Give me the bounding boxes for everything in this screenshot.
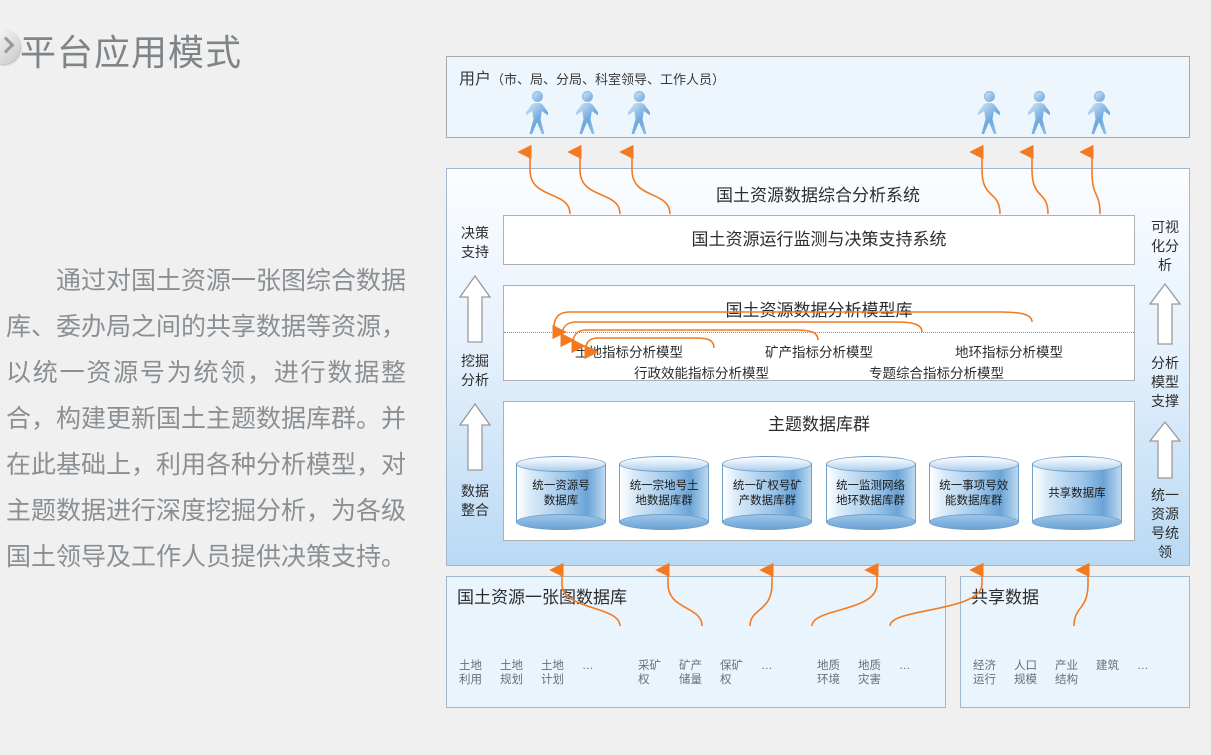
users-label-main: 用户 [459,69,491,88]
theme-database-title: 主题数据库群 [504,410,1134,435]
model-item: 土地指标分析模型 [575,341,683,361]
model-row-2: 行政效能指标分析模型 专题综合指标分析模型 [504,362,1134,382]
user-person-icon [1087,91,1111,135]
user-person-icon [525,91,549,135]
cylinder-label: 土地 规划 [500,659,536,687]
cylinder-label: 地质 灾害 [858,659,894,687]
side-label-decision-support: 决策 支持 [455,225,495,263]
database-cylinder[interactable]: 统一资源号 数据库 [516,456,606,530]
theme-database-box: 主题数据库群 统一资源号 数据库 统一宗地号土 地数据库群 统一矿权号矿 产数据… [503,401,1135,541]
side-label-mining-analysis: 挖掘 分析 [455,353,495,391]
model-row-1: 土地指标分析模型 矿产指标分析模型 地环指标分析模型 [504,341,1134,361]
model-item: 专题综合指标分析模型 [869,362,1004,382]
small-database-cylinder[interactable]: … [899,633,935,695]
small-database-cylinder[interactable]: 人口 规模 [1014,633,1050,695]
small-database-cylinder[interactable]: … [582,633,618,695]
database-cylinder[interactable]: 共享数据库 [1032,456,1122,530]
small-database-cylinder[interactable]: 土地 规划 [500,633,536,695]
up-arrow-icon [457,401,493,473]
cylinder-label: … [899,659,935,673]
side-label-unified-resource-no: 统一 资源 号统 领 [1145,487,1185,563]
database-cylinder[interactable]: 统一矿权号矿 产数据库群 [722,456,812,530]
side-label-visual-analysis: 可视 化分 析 [1145,219,1185,276]
cylinder-label: 地质 环境 [817,659,853,687]
cylinder-label: … [1137,659,1173,673]
cylinder-label: 建筑 [1096,659,1132,673]
small-database-cylinder[interactable]: 经济 运行 [973,633,1009,695]
main-panel-title: 国土资源数据综合分析系统 [447,181,1189,206]
cylinder-label: 矿产 储量 [679,659,715,687]
cylinder-label: 保矿 权 [720,659,756,687]
database-cylinder[interactable]: 统一宗地号土 地数据库群 [619,456,709,530]
user-person-icon [575,91,599,135]
cylinder-label: 人口 规模 [1014,659,1050,687]
small-database-cylinder[interactable]: 土地 计划 [541,633,577,695]
small-database-cylinder[interactable]: 矿产 储量 [679,633,715,695]
shared-data-panel: 共享数据 经济 运行 人口 规模 产业 结构 建筑 … [960,576,1190,708]
cylinder-label: 统一矿权号矿 产数据库群 [722,478,812,508]
users-box: 用户（市、局、分局、科室领导、工作人员） [446,56,1190,138]
up-arrow-icon [1147,419,1183,481]
cylinder-label: … [582,659,618,673]
small-database-cylinder[interactable]: 地质 灾害 [858,633,894,695]
small-database-cylinder[interactable]: 地质 环境 [817,633,853,695]
main-analysis-panel: 国土资源数据综合分析系统 决策 支持 挖掘 分析 数据 整合 可视 化分 析 分… [446,168,1190,566]
users-label-detail: （市、局、分局、科室领导、工作人员） [491,73,725,88]
diagram-root: 用户（市、局、分局、科室领导、工作人员） 国土资源数据综合分析系统 决策 支持 … [440,50,1200,715]
small-database-cylinder[interactable]: 建筑 [1096,633,1132,695]
cylinder-label: 土地 利用 [459,659,495,687]
monitoring-system-box: 国土资源运行监测与决策支持系统 [503,215,1135,265]
database-cylinder[interactable]: 统一监测网络 地环数据库群 [826,456,916,530]
user-person-icon [627,91,651,135]
small-database-cylinder[interactable]: 产业 结构 [1055,633,1091,695]
database-cylinder[interactable]: 统一事项号效 能数据库群 [929,456,1019,530]
model-library-box: 国土资源数据分析模型库 土地指标分析模型 矿产指标分析模型 地环指标分析模型 行… [503,285,1135,381]
up-arrow-icon [1147,281,1183,347]
cylinder-label: 统一事项号效 能数据库群 [929,478,1019,508]
cylinder-label: 产业 结构 [1055,659,1091,687]
cylinder-label: 经济 运行 [973,659,1009,687]
users-label: 用户（市、局、分局、科室领导、工作人员） [459,65,725,89]
small-database-cylinder[interactable]: 保矿 权 [720,633,756,695]
body-paragraph: 通过对国土资源一张图综合数据库、委办局之间的共享数据等资源，以统一资源号为统领，… [6,258,406,580]
cylinder-label: 统一宗地号土 地数据库群 [619,478,709,508]
up-arrow-icon [457,273,493,345]
small-database-cylinder[interactable]: … [1137,633,1173,695]
cylinder-label: 采矿 权 [638,659,674,687]
side-label-data-integration: 数据 整合 [455,483,495,521]
small-database-cylinder[interactable]: 土地 利用 [459,633,495,695]
theme-cylinder-row: 统一资源号 数据库 统一宗地号土 地数据库群 统一矿权号矿 产数据库群 统一监测… [504,456,1134,530]
page-title: 平台应用模式 [20,24,242,76]
user-person-icon [977,91,1001,135]
cylinder-label: … [761,659,797,673]
onemap-panel-title: 国土资源一张图数据库 [457,583,627,608]
user-person-icon [1027,91,1051,135]
model-item: 行政效能指标分析模型 [634,362,769,382]
small-database-cylinder[interactable]: 采矿 权 [638,633,674,695]
monitoring-system-title: 国土资源运行监测与决策支持系统 [504,216,1134,264]
model-item: 矿产指标分析模型 [765,341,873,361]
side-label-model-support: 分析 模型 支撑 [1145,355,1185,412]
model-item: 地环指标分析模型 [955,341,1063,361]
cylinder-label: 统一资源号 数据库 [516,478,606,508]
shared-panel-title: 共享数据 [971,583,1039,608]
small-database-cylinder[interactable]: … [761,633,797,695]
cylinder-label: 共享数据库 [1032,486,1122,501]
onemap-database-panel: 国土资源一张图数据库 土地 利用 土地 规划 土地 计划 … 采矿 权 矿产 储… [446,576,946,708]
title-bullet-icon [0,30,20,64]
model-divider [504,332,1134,333]
cylinder-label: 土地 计划 [541,659,577,687]
cylinder-label: 统一监测网络 地环数据库群 [826,478,916,508]
model-library-title: 国土资源数据分析模型库 [504,296,1134,321]
